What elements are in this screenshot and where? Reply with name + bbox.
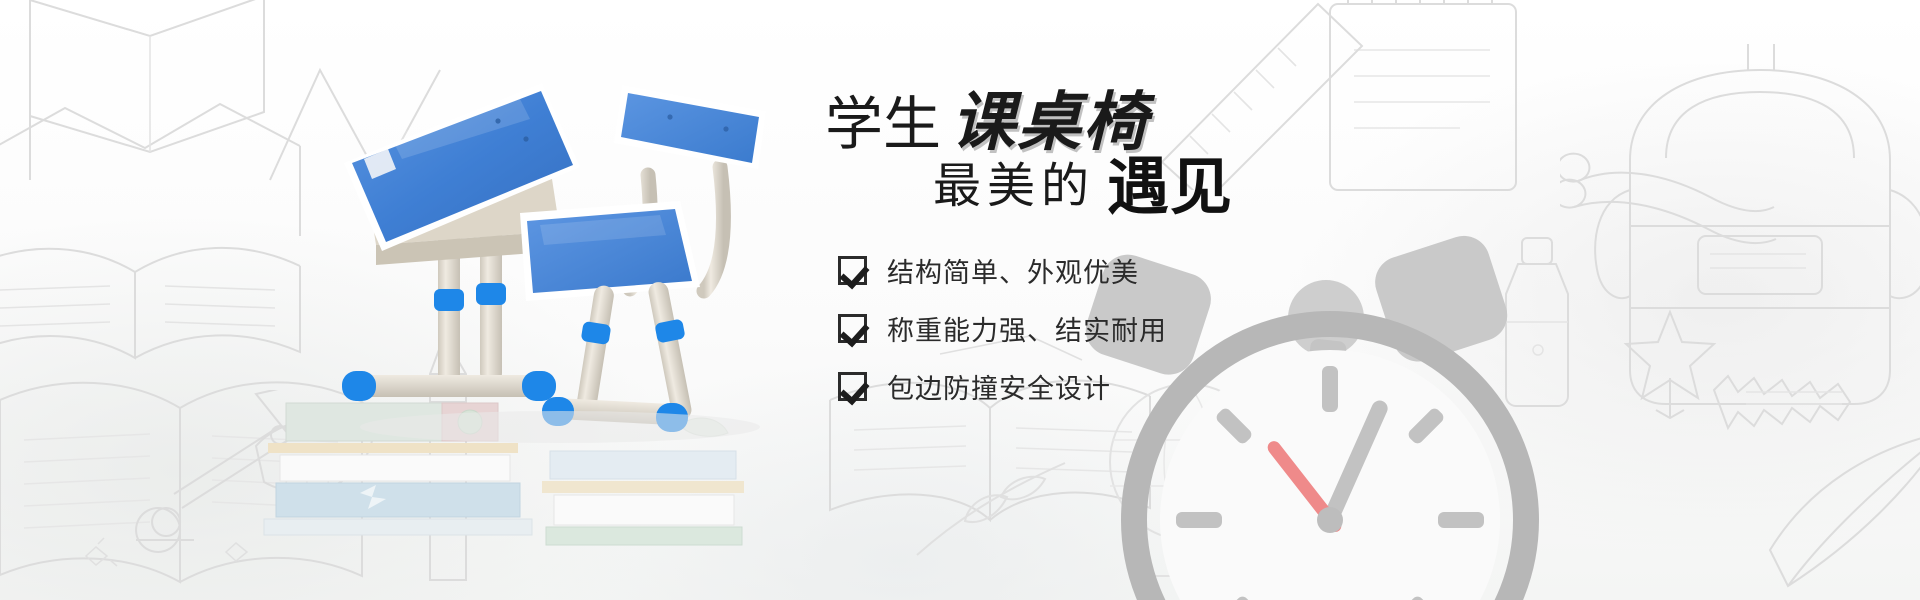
eraser-sketch bbox=[1700, 330, 1900, 460]
headline-subtitle-heavy: 遇见 bbox=[1107, 150, 1233, 223]
backpack-sketch bbox=[1590, 40, 1920, 440]
headline-line-2: 最美的遇见 bbox=[933, 156, 1233, 224]
feature-item-1: 结构简单、外观优美 bbox=[838, 248, 1167, 292]
feature-label-2: 称重能力强、结实耐用 bbox=[887, 309, 1167, 348]
promo-banner: 学生课桌椅 最美的遇见 结构简单、外观优美 称重能力强、结实耐用 包边防撞安全设… bbox=[0, 0, 1920, 600]
headline-brush-text: 课桌椅 bbox=[951, 87, 1149, 158]
checkbox-checked-icon bbox=[838, 372, 867, 401]
checkbox-checked-icon bbox=[838, 256, 867, 285]
feature-item-2: 称重能力强、结实耐用 bbox=[838, 306, 1167, 350]
feature-item-3: 包边防撞安全设计 bbox=[838, 364, 1167, 408]
headline-line-1: 学生课桌椅 bbox=[825, 92, 1149, 156]
flag-sketch bbox=[0, 0, 300, 210]
headline-block: 学生课桌椅 最美的遇见 bbox=[815, 92, 1375, 232]
feature-label-1: 结构简单、外观优美 bbox=[887, 251, 1139, 290]
feature-label-3: 包边防撞安全设计 bbox=[887, 367, 1111, 406]
checkbox-checked-icon bbox=[838, 314, 867, 343]
headline-subtitle-thin: 最美的 bbox=[933, 160, 1095, 213]
notebook-sketch bbox=[0, 360, 370, 600]
paper-plane-sketch bbox=[1760, 430, 1920, 600]
star-badge-sketch bbox=[1600, 300, 1740, 430]
headline-prefix: 学生 bbox=[825, 92, 941, 157]
feature-list: 结构简单、外观优美 称重能力强、结实耐用 包边防撞安全设计 bbox=[838, 248, 1167, 422]
student-desk-and-chair-photo bbox=[330, 75, 800, 465]
